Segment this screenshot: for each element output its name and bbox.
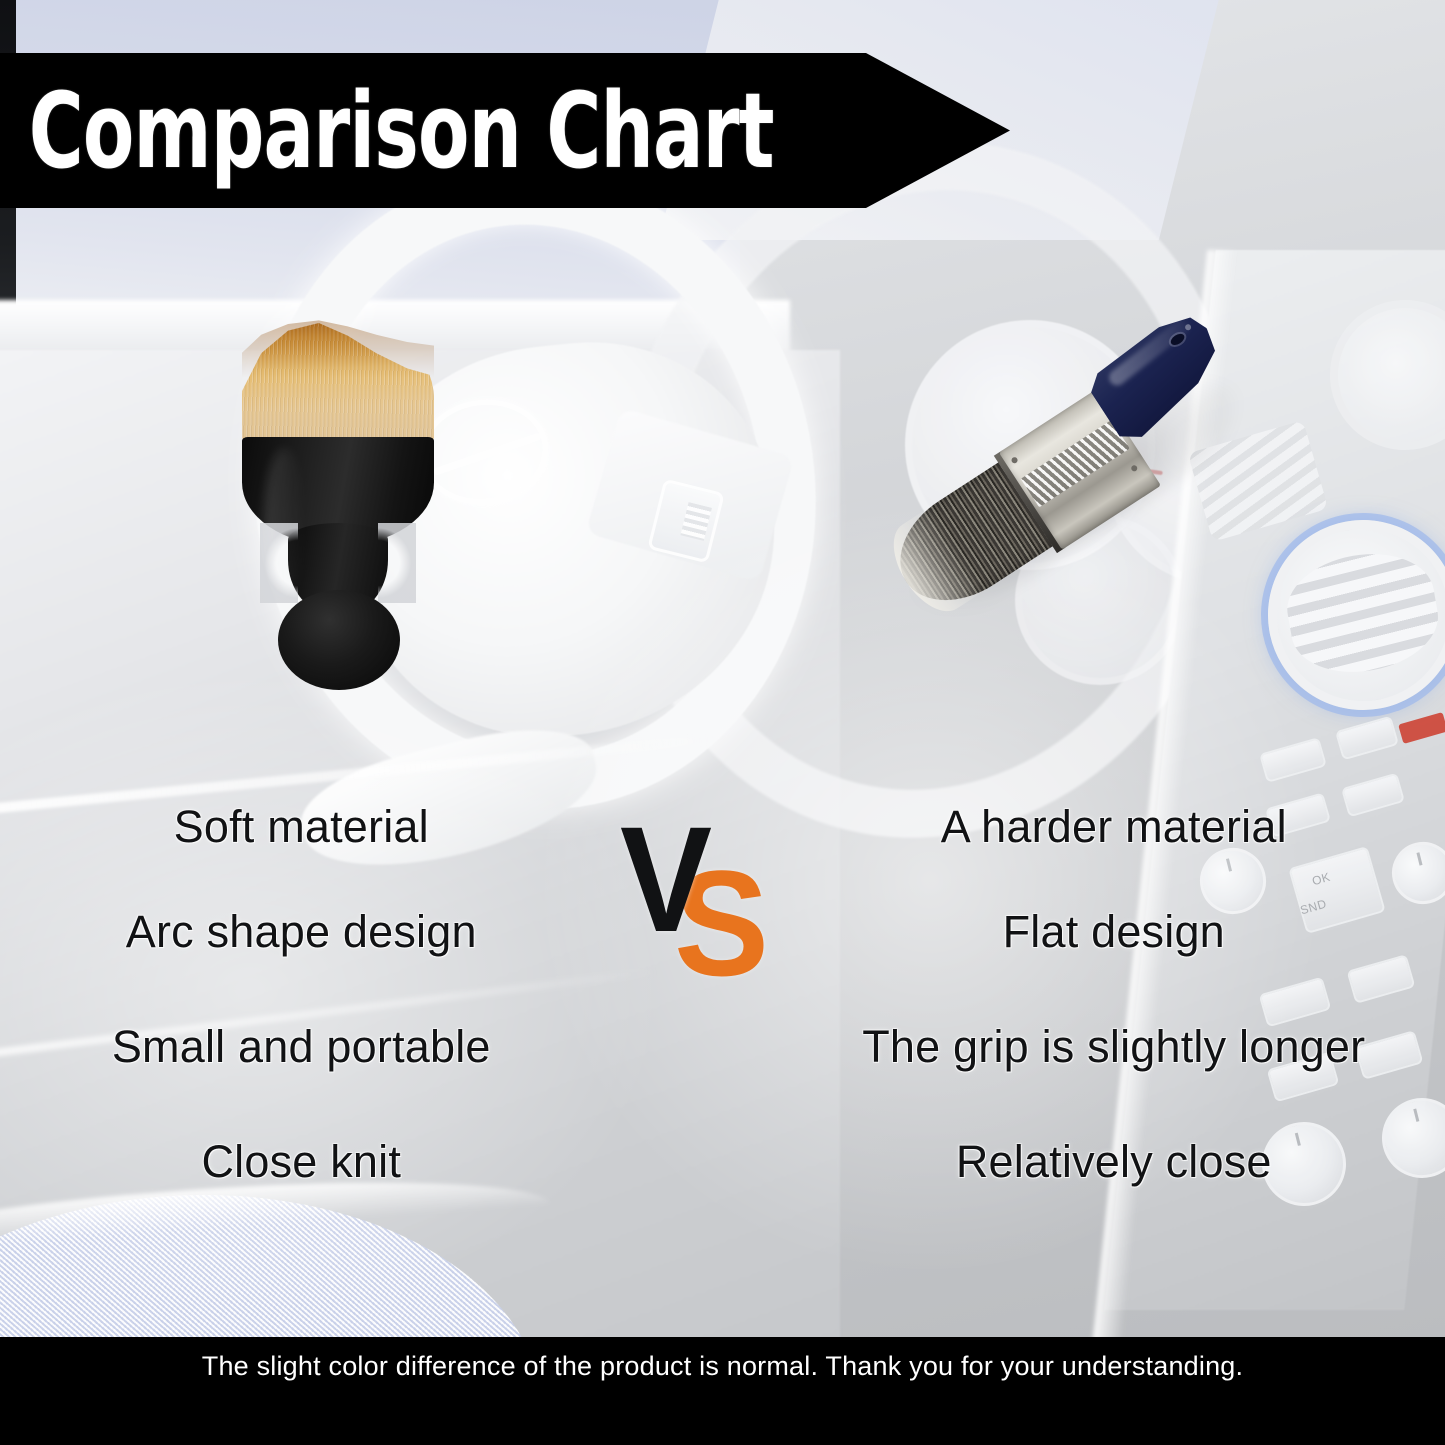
- feature-left-3: Close knit: [0, 1135, 723, 1189]
- comparison-row: Small and portable The grip is slightly …: [0, 1020, 1445, 1074]
- footer-bar: The slight color difference of the produ…: [0, 1337, 1445, 1445]
- feature-left-1: Arc shape design: [0, 905, 723, 959]
- feature-left-0: Soft material: [0, 800, 723, 854]
- feature-right-3: Relatively close: [723, 1135, 1445, 1189]
- vs-letter-v: V: [620, 804, 712, 954]
- footer-disclaimer: The slight color difference of the produ…: [0, 1351, 1445, 1382]
- comparison-row: Close knit Relatively close: [0, 1135, 1445, 1189]
- feature-left-2: Small and portable: [0, 1020, 723, 1074]
- feature-right-1: Flat design: [723, 905, 1445, 959]
- comparison-rows: Soft material A harder material Arc shap…: [0, 0, 1445, 1445]
- feature-right-0: A harder material: [723, 800, 1445, 854]
- comparison-chart-image: OK SND Comparison Chart: [0, 0, 1445, 1445]
- feature-right-2: The grip is slightly longer: [723, 1020, 1445, 1074]
